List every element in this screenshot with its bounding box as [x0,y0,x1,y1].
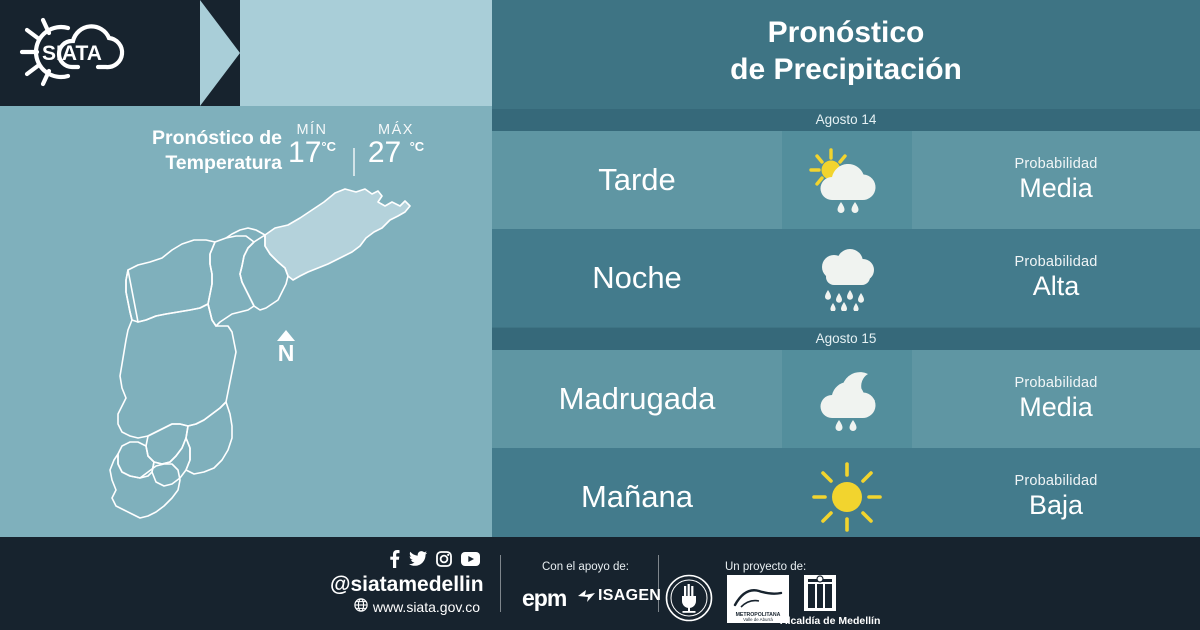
temperature-divider [353,148,355,176]
forecast-row-noche: Noche [492,229,1200,327]
website-url[interactable]: www.siata.gov.co [373,599,480,615]
moon-rain-cloud-icon [782,350,912,448]
map-region-barbosa [265,189,410,280]
date-band-agosto-14: Agosto 14 [492,109,1200,131]
temperature-max-value: 27 °C [360,136,432,170]
siata-logo-block: SIATA [0,0,200,106]
unal-seal-icon [665,574,713,627]
min-unit: °C [321,139,336,154]
probability-label: Probabilidad [1014,473,1097,489]
probability-label: Probabilidad [1014,254,1097,270]
temperature-max: MÁX 27 °C [360,122,432,170]
isagen-text: ISAGEN [598,587,661,605]
forecast-panel: Pronóstico de Precipitación Agosto 14 Ta… [492,0,1200,537]
forecast-title-line1: Pronóstico [768,16,925,49]
cloud-shape [821,382,876,418]
sun-icon [782,448,912,546]
temperature-title-line2: Temperatura [165,152,282,174]
temperature-title-line1: Pronóstico de [152,127,282,149]
forecast-row-manana: Mañana Probabili [492,448,1200,546]
probability-label: Probabilidad [1014,375,1097,391]
period-label-tarde: Tarde [492,131,782,229]
temperature-title: Pronóstico de Temperatura [82,126,282,176]
svg-text:Valle de Aburrá: Valle de Aburrá [743,617,773,622]
probability-value: Alta [1033,271,1080,302]
forecast-row-madrugada: Madrugada Probabilidad Media [492,350,1200,448]
isagen-mark-icon [578,589,595,603]
left-panel: SIATA Barbosa Pronóstico de Temperatura … [0,0,492,537]
temperature-min-label: MÍN [278,122,346,138]
probability-cell-madrugada: Probabilidad Media [912,350,1200,448]
map-region-envigado [186,402,232,474]
instagram-icon[interactable] [436,551,452,572]
probability-cell-tarde: Probabilidad Media [912,131,1200,229]
temperature-min-value: 17°C [278,136,346,170]
footer: @siatamedellin www.siata.gov.co Con el a… [0,537,1200,630]
temperature-min: MÍN 17°C [278,122,346,170]
social-icons [330,551,480,571]
max-number: 27 [368,136,401,169]
probability-cell-noche: Probabilidad Alta [912,229,1200,327]
social-block: @siatamedellin www.siata.gov.co [330,551,480,615]
map-region-caldas [110,454,180,518]
youtube-icon[interactable] [461,552,480,571]
probability-cell-manana: Probabilidad Baja [912,448,1200,546]
valle-de-aburra-map [60,180,460,532]
social-handle[interactable]: @siatamedellin [330,572,480,597]
period-label-noche: Noche [492,229,782,327]
website-row[interactable]: www.siata.gov.co [330,598,480,615]
temperature-max-label: MÁX [360,122,432,138]
map-region-sabaneta [152,438,190,486]
probability-value: Media [1019,173,1093,204]
date-band-agosto-15: Agosto 15 [492,328,1200,350]
map-region-copacabana [208,236,254,326]
period-label-manana: Mañana [492,448,782,546]
min-number: 17 [288,136,321,169]
project-title: Un proyecto de: [725,561,806,573]
north-arrow-label: N [277,342,295,364]
support-title: Con el apoyo de: [542,561,629,573]
map-region-itagui [146,424,188,464]
sun-disc [832,482,862,512]
probability-value: Media [1019,392,1093,423]
facebook-icon[interactable] [389,550,400,573]
weather-infographic: SIATA Barbosa Pronóstico de Temperatura … [0,0,1200,630]
forecast-title-line2: de Precipitación [730,53,962,86]
forecast-title: Pronóstico de Precipitación [492,14,1200,88]
epm-logo: epm [522,585,566,612]
map-region-medellin [118,270,236,438]
forecast-row-tarde: Tarde Probabilidad [492,131,1200,229]
period-label-madrugada: Madrugada [492,350,782,448]
alcaldia-seal-icon [800,573,840,618]
twitter-icon[interactable] [409,551,427,571]
footer-divider-1 [500,555,501,612]
probability-label: Probabilidad [1014,156,1097,172]
probability-value: Baja [1029,490,1083,521]
map-region-bello [126,240,215,322]
heavy-rain-cloud-icon [782,229,912,327]
sun-rain-cloud-icon [782,131,912,229]
siata-logo-icon: SIATA [16,12,134,97]
isagen-logo: ISAGEN [578,587,661,605]
logo-arrow-shape [200,0,240,106]
alcaldia-label: Alcaldía de Medellín [780,615,880,627]
north-arrow: N [277,330,295,364]
max-unit: °C [410,139,425,154]
siata-logo-text: SIATA [42,42,102,65]
globe-icon [354,598,368,615]
